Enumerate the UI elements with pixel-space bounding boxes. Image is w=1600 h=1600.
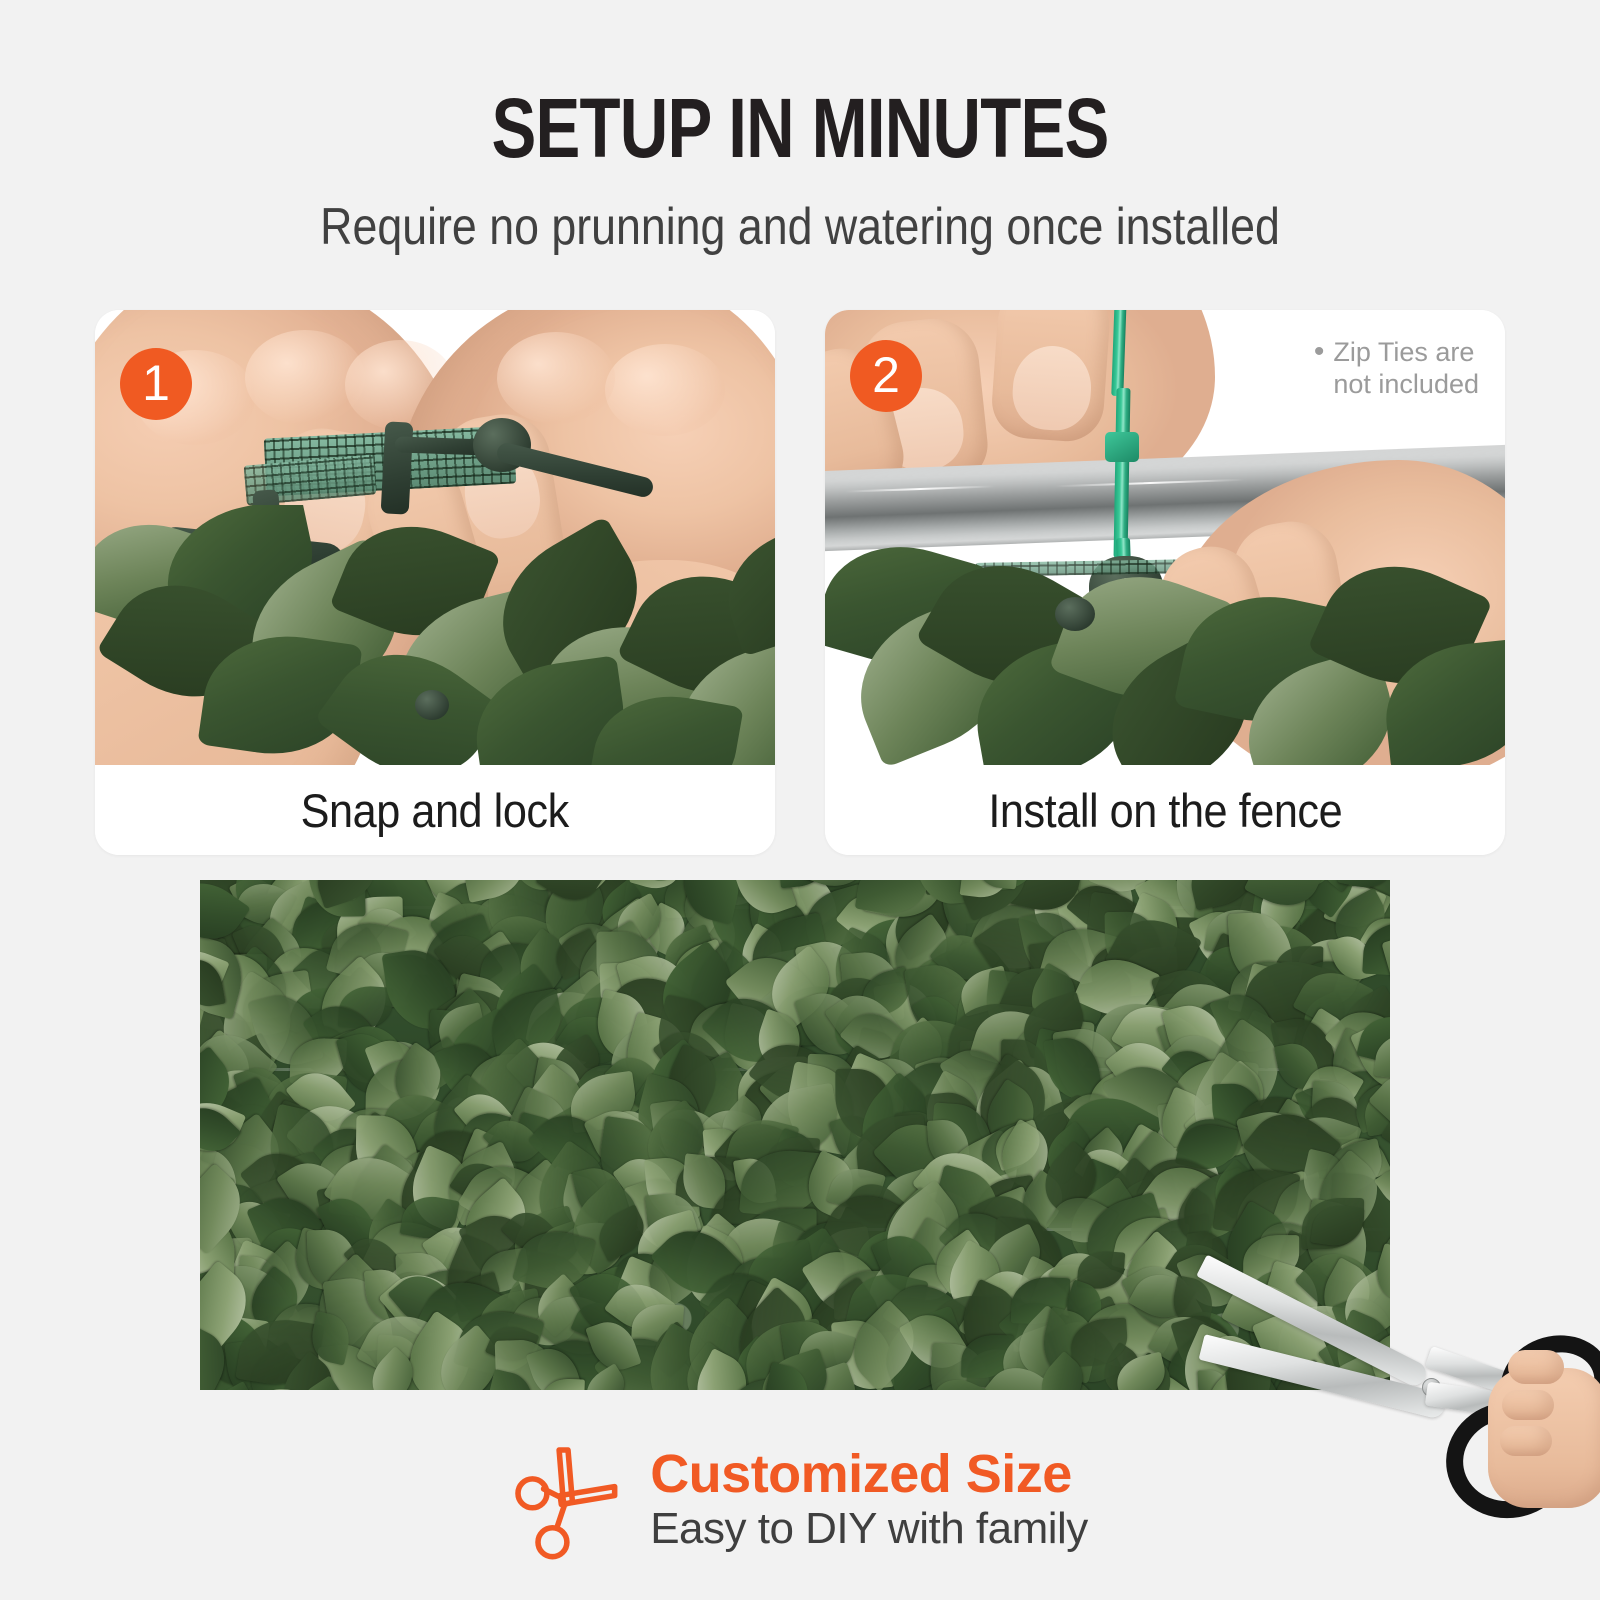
zip-ties-note-line-2: not included (1333, 369, 1479, 399)
step-2-caption-text: Install on the fence (988, 783, 1342, 838)
step-card-1[interactable]: 1 Snap and lock (95, 310, 775, 855)
page-title: SETUP IN MINUTES (160, 86, 1440, 170)
page-subtitle: Require no prunning and watering once in… (112, 198, 1488, 258)
knuckle-highlight (497, 332, 615, 424)
footer-banner: Customized Size Easy to DIY with family (0, 1425, 1600, 1575)
step-1-photo (95, 310, 775, 765)
header: SETUP IN MINUTES Require no prunning and… (0, 0, 1600, 285)
clip-head (415, 690, 449, 720)
zip-ties-note-line-1: Zip Ties are (1333, 337, 1474, 367)
ivy-foliage (95, 505, 775, 765)
finger (1502, 1390, 1554, 1420)
step-card-2[interactable]: 2 • Zip Ties are not included Install on… (825, 310, 1505, 855)
finger (1508, 1350, 1564, 1384)
clip-head (1055, 597, 1095, 631)
step-1-caption: Snap and lock (95, 765, 775, 855)
zip-ties-note: • Zip Ties are not included (1314, 336, 1479, 401)
step-badge-2: 2 (850, 340, 922, 412)
bullet-icon: • (1314, 336, 1325, 401)
step-1-caption-text: Snap and lock (301, 783, 569, 838)
knuckle-highlight (605, 344, 725, 436)
footer-title: Customized Size (650, 1446, 1088, 1503)
ivy-foliage (825, 505, 1505, 765)
footer-subtitle: Easy to DIY with family (650, 1505, 1088, 1553)
scissors-icon (512, 1440, 624, 1560)
step-badge-1: 1 (120, 348, 192, 420)
connector-clip (381, 421, 414, 514)
product-ivy-panel (200, 880, 1390, 1390)
step-2-caption: Install on the fence (825, 765, 1505, 855)
zip-tie-head (1105, 432, 1139, 462)
